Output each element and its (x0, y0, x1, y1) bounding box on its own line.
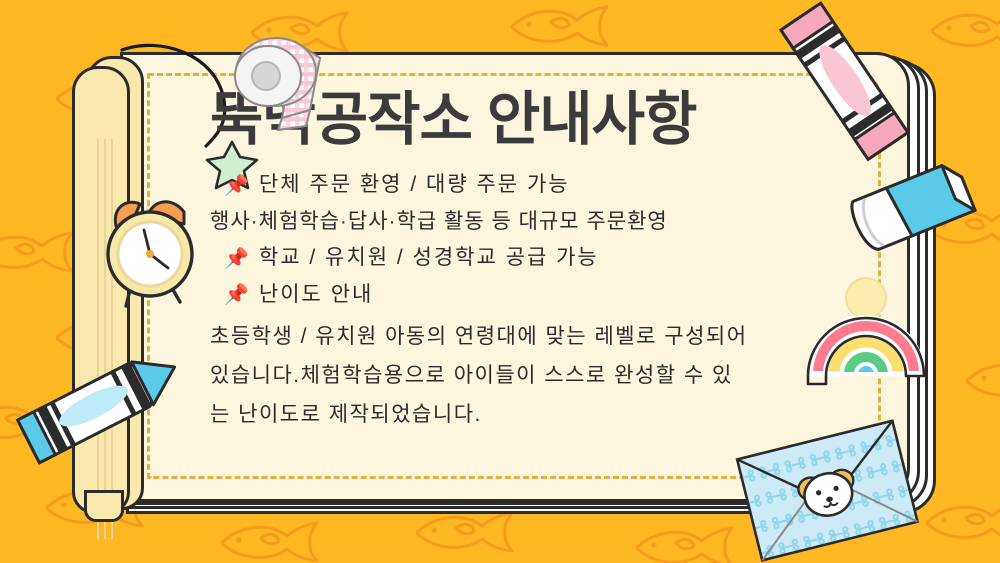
bullet-item-1: 📌 단체 주문 환영 / 대량 주문 가능 (224, 170, 810, 200)
description-paragraph: 초등학생 / 유치원 아동의 연령대에 맞는 레벨로 구성되어 있습니다.체험학… (210, 318, 750, 435)
bullet-item-3: 📌 난이도 안내 (224, 280, 810, 310)
bullet-item-2: 📌 학교 / 유치원 / 성경학교 공급 가능 (224, 243, 810, 273)
rainbow-sticker-icon (802, 272, 932, 402)
poster-canvas: 뚝딱공작소 안내사항 📌 단체 주문 환영 / 대량 주문 가능 행사·체험학습… (0, 0, 1000, 563)
pushpin-icon: 📌 (224, 249, 249, 269)
bullet-label-1: 단체 주문 환영 / 대량 주문 가능 (259, 170, 570, 200)
bullet-label-2: 학교 / 유치원 / 성경학교 공급 가능 (259, 243, 599, 273)
bullet-label-3: 난이도 안내 (259, 280, 373, 310)
poster-content: 뚝딱공작소 안내사항 📌 단체 주문 환영 / 대량 주문 가능 행사·체험학습… (210, 86, 810, 435)
washi-tape-roll-icon (232, 18, 340, 130)
dog-envelope-icon (740, 418, 920, 563)
alarm-clock-icon (92, 182, 208, 310)
pushpin-icon: 📌 (224, 176, 249, 196)
pushpin-icon: 📌 (224, 285, 249, 305)
eraser-icon (852, 148, 982, 268)
blue-crayon-icon (0, 316, 198, 496)
subline-1: 행사·체험학습·답사·학급 활동 등 대규모 주문환영 (210, 207, 810, 237)
